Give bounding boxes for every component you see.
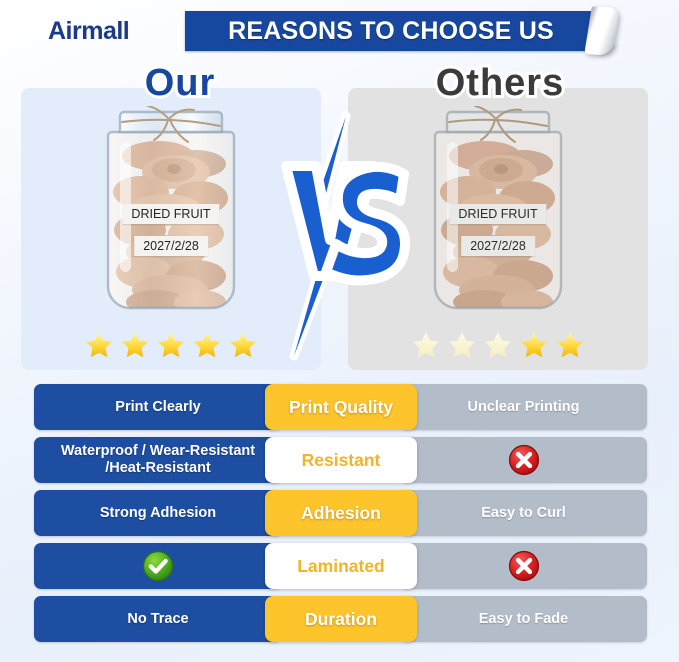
others-feature-cell: Easy to Curl (400, 490, 647, 536)
green-check-icon (141, 549, 175, 583)
comparison-table: Print Clearly Print Quality Unclear Prin… (34, 384, 647, 649)
others-feature-text: Easy to Curl (481, 505, 566, 522)
others-column-title-text: Others (436, 62, 564, 105)
product-label-date: 2027/2/28 (461, 236, 535, 256)
feature-name-cell: Duration (265, 596, 417, 642)
our-rating-stars (21, 330, 321, 362)
our-product-panel: DRIED FRUIT 2027/2/28 (21, 88, 321, 370)
others-feature-cell: Easy to Fade (400, 596, 647, 642)
red-cross-icon (507, 443, 541, 477)
star-icon (227, 330, 259, 362)
others-feature-text: Unclear Printing (468, 399, 580, 416)
banner-title: REASONS TO CHOOSE US (185, 11, 597, 51)
feature-name-text: Adhesion (301, 503, 381, 523)
glass-jar-of-dried-fruit-icon: DRIED FRUIT 2027/2/28 (423, 106, 573, 318)
feature-name-text: Laminated (297, 556, 385, 576)
table-row: Print Clearly Print Quality Unclear Prin… (34, 384, 647, 430)
our-feature-cell: No Trace (34, 596, 282, 642)
star-icon-faded (410, 330, 442, 362)
table-row: Laminated (34, 543, 647, 589)
table-row: No Trace Duration Easy to Fade (34, 596, 647, 642)
our-feature-cell: Print Clearly (34, 384, 282, 430)
product-label-name: DRIED FRUIT (122, 204, 219, 224)
our-column-title: Our (20, 60, 340, 106)
table-row: Strong Adhesion Adhesion Easy to Curl (34, 490, 647, 536)
our-feature-text: No Trace (127, 611, 188, 628)
star-icon (83, 330, 115, 362)
our-feature-cell: Strong Adhesion (34, 490, 282, 536)
others-feature-cell (400, 437, 647, 483)
banner-ribbon: REASONS TO CHOOSE US (185, 11, 597, 51)
star-icon (518, 330, 550, 362)
star-icon-faded (446, 330, 478, 362)
others-rating-stars (348, 330, 648, 362)
star-icon (119, 330, 151, 362)
our-feature-text: Waterproof / Wear-Resistant /Heat-Resist… (61, 443, 255, 476)
others-product-panel: DRIED FRUIT 2027/2/28 (348, 88, 648, 370)
table-row: Waterproof / Wear-Resistant /Heat-Resist… (34, 437, 647, 483)
feature-name-text: Duration (305, 609, 377, 629)
others-feature-cell (400, 543, 647, 589)
others-column-title: Others (340, 60, 660, 106)
feature-name-text: Resistant (302, 450, 381, 470)
star-icon-faded (482, 330, 514, 362)
others-feature-cell: Unclear Printing (400, 384, 647, 430)
red-cross-icon (507, 549, 541, 583)
brand-logo: Airmall (48, 17, 129, 46)
our-column-title-text: Our (145, 62, 216, 105)
feature-name-cell: Laminated (265, 543, 417, 589)
feature-name-cell: Adhesion (265, 490, 417, 536)
our-feature-text: Strong Adhesion (100, 505, 216, 522)
glass-jar-of-dried-fruit-icon: DRIED FRUIT 2027/2/28 (96, 106, 246, 318)
our-feature-cell: Waterproof / Wear-Resistant /Heat-Resist… (34, 437, 282, 483)
our-feature-cell (34, 543, 282, 589)
header: Airmall REASONS TO CHOOSE US (0, 4, 679, 54)
feature-name-cell: Resistant (265, 437, 417, 483)
comparison-infographic: Airmall REASONS TO CHOOSE US Our Others (0, 0, 679, 662)
product-label-name: DRIED FRUIT (449, 204, 546, 224)
star-icon (554, 330, 586, 362)
product-label-date: 2027/2/28 (134, 236, 208, 256)
our-feature-text: Print Clearly (115, 399, 200, 416)
star-icon (155, 330, 187, 362)
others-feature-text: Easy to Fade (479, 611, 568, 628)
star-icon (191, 330, 223, 362)
feature-name-cell: Print Quality (265, 384, 417, 430)
feature-name-text: Print Quality (289, 397, 393, 417)
